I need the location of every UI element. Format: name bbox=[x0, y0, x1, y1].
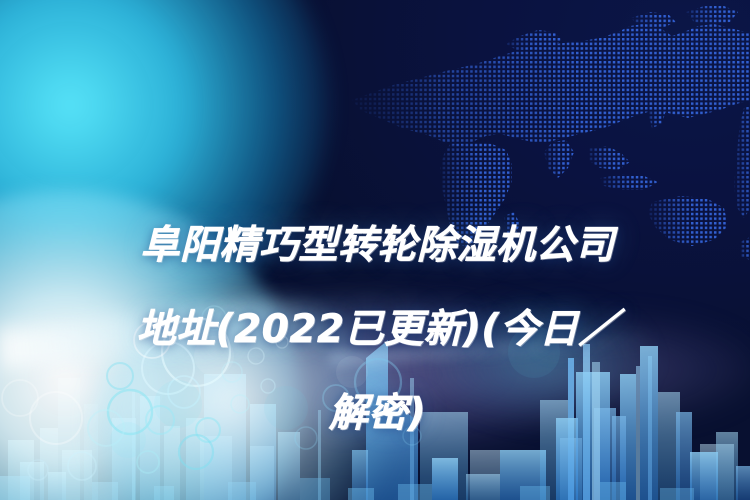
page-title: 阜阳精巧型转轮除湿机公司 地址(2022已更新)(今日／ 解密) bbox=[105, 183, 650, 477]
page-title-line-3: 解密) bbox=[105, 393, 650, 435]
page-title-line-1: 阜阳精巧型转轮除湿机公司 bbox=[105, 225, 650, 267]
page-title-line-2: 地址(2022已更新)(今日／ bbox=[105, 309, 650, 351]
promo-banner: 阜阳精巧型转轮除湿机公司 地址(2022已更新)(今日／ 解密) bbox=[0, 0, 750, 500]
